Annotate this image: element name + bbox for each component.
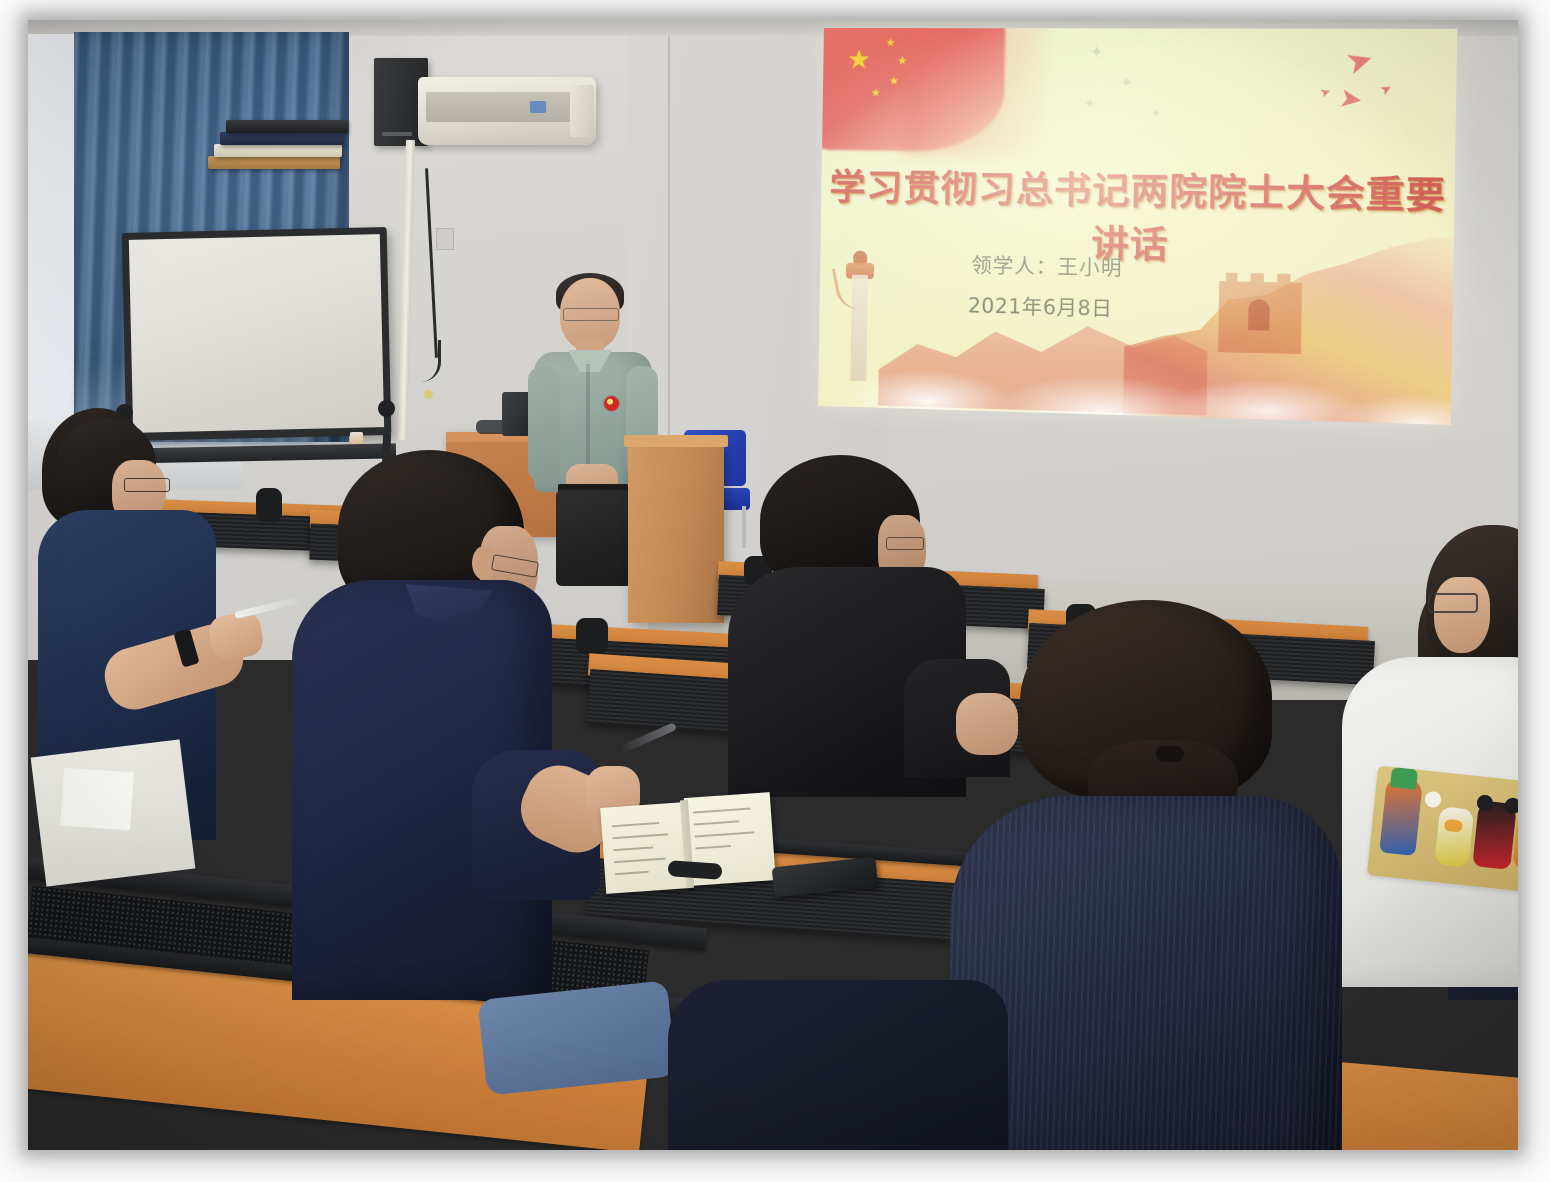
book: [220, 132, 344, 145]
hair-tie: [1156, 746, 1184, 762]
book: [214, 144, 342, 157]
speaker-label: [382, 132, 412, 136]
dove-icon: ✦: [1150, 106, 1161, 120]
attendee-face: [1434, 577, 1490, 653]
goofy-hat-icon: [1390, 767, 1418, 790]
ac-logo-icon: [530, 101, 546, 113]
projection-screen: ★ ★ ★ ★ ★ ✦ ✦ ✦ ✦ ➤ ➤ ➤ ➤ 学习贯彻习: [818, 28, 1457, 425]
open-notebook: [600, 792, 776, 896]
whiteboard-pivot-right: [378, 400, 395, 417]
classroom-photograph: ★ ★ ★ ★ ★ ✦ ✦ ✦ ✦ ➤ ➤ ➤ ➤ 学习贯彻习: [28, 20, 1518, 1150]
dove-icon: ✦: [1084, 96, 1096, 112]
flag-star-icon: ★: [889, 76, 899, 87]
glasses-icon: [124, 478, 170, 492]
donald-bill-icon: [1444, 819, 1463, 833]
glasses-icon: [1428, 593, 1478, 613]
flag-star-icon: ★: [886, 38, 896, 49]
lectern-top: [624, 435, 728, 447]
glasses-icon: [886, 537, 924, 550]
goofy-icon: [1379, 777, 1423, 856]
whiteboard-frame: [122, 227, 392, 441]
air-conditioner: [418, 77, 596, 145]
glasses-icon: [563, 308, 619, 321]
book-stack: [208, 116, 378, 172]
wall-socket: [436, 228, 454, 250]
attendee-writing-left: [38, 418, 288, 888]
notebook-page-left: [600, 802, 692, 894]
photo-frame: ★ ★ ★ ★ ★ ✦ ✦ ✦ ✦ ➤ ➤ ➤ ➤ 学习贯彻习: [0, 0, 1550, 1182]
paper-sheet: [60, 768, 134, 831]
attendee-white-tshirt: [1328, 525, 1518, 995]
attendee-jeans: [478, 980, 677, 1095]
dove-icon: ✦: [1089, 43, 1104, 63]
ac-side-panel: [570, 85, 594, 137]
attendee-taking-notes: [286, 450, 646, 1070]
party-badge-icon: [604, 396, 619, 411]
knit-texture: [950, 796, 1342, 1150]
book: [226, 120, 348, 133]
donald-icon: [1434, 806, 1474, 867]
flag-star-icon: ★: [897, 56, 907, 67]
book: [208, 156, 340, 169]
dove-icon: ✦: [1120, 73, 1133, 91]
glove-icon: [1424, 791, 1442, 809]
flag-star-icon: ★: [871, 88, 881, 99]
flag-fade: [902, 28, 1046, 154]
ac-vent: [426, 92, 574, 122]
whiteboard-surface: [129, 234, 384, 433]
attendee-foreground-partial: [668, 980, 1008, 1150]
flag-star-large-icon: ★: [847, 46, 871, 72]
cartoon-print: [1367, 766, 1518, 895]
wall-hook: [424, 390, 433, 399]
